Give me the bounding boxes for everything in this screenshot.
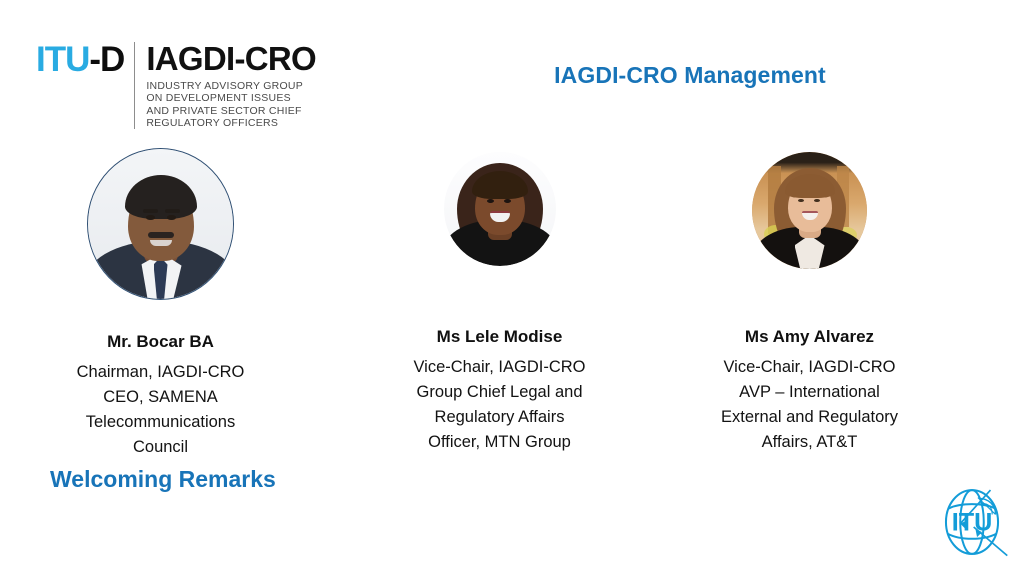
logo-subtitle-line-1: INDUSTRY ADVISORY GROUP [146, 80, 316, 92]
person-role-amy-alvarez: Vice-Chair, IAGDI-CRO AVP – Internationa… [677, 355, 942, 455]
itu-logo-icon: ITU [930, 480, 1014, 564]
welcoming-remarks-label: Welcoming Remarks [50, 466, 276, 493]
person-role-line: AVP – International [677, 380, 942, 405]
person-role-line: Telecommunications [28, 410, 293, 435]
itu-logo-text: ITU [952, 508, 993, 536]
person-role-line: CEO, SAMENA [28, 385, 293, 410]
portrait-moustache [148, 232, 174, 238]
person-role-line: Regulatory Affairs [367, 405, 632, 430]
itu-d-suffix-text: -D [89, 40, 124, 79]
person-role-line: Affairs, AT&T [677, 430, 942, 455]
portrait-image-amy-alvarez [752, 152, 867, 269]
itu-globe-icon: ITU [930, 480, 1014, 564]
person-card-amy-alvarez: Ms Amy Alvarez Vice-Chair, IAGDI-CRO AVP… [677, 152, 942, 455]
logo-divider [134, 42, 135, 129]
logo-subtitle-line-3: AND PRIVATE SECTOR CHIEF [146, 105, 316, 117]
portrait-eye-left [487, 199, 494, 203]
iagdi-cro-wordmark: IAGDI-CRO [146, 42, 316, 76]
portrait-image-bocar-ba [88, 149, 233, 299]
portrait-bocar-ba [87, 148, 234, 300]
logo-subtitle-line-4: REGULATORY OFFICERS [146, 117, 316, 129]
person-role-line: Chairman, IAGDI-CRO [28, 360, 293, 385]
person-role-line: Council [28, 435, 293, 460]
person-role-line: Vice-Chair, IAGDI-CRO [367, 355, 632, 380]
person-name-lele-modise: Ms Lele Modise [367, 326, 632, 348]
person-card-bocar-ba: Mr. Bocar BA Chairman, IAGDI-CRO CEO, SA… [28, 148, 293, 460]
portrait-eye-right [167, 215, 176, 220]
portrait-eye-left [146, 215, 155, 220]
portrait-image-lele-modise [444, 152, 556, 266]
person-role-line: Vice-Chair, IAGDI-CRO [677, 355, 942, 380]
portrait-lele-modise [444, 152, 556, 266]
person-role-lele-modise: Vice-Chair, IAGDI-CRO Group Chief Legal … [367, 355, 632, 455]
portrait-eyebrow-left [143, 209, 158, 213]
portrait-eye-right [504, 199, 511, 203]
logo-subtitle-line-2: ON DEVELOPMENT ISSUES [146, 92, 316, 104]
logo-right-block: IAGDI-CRO INDUSTRY ADVISORY GROUP ON DEV… [146, 42, 316, 129]
person-name-bocar-ba: Mr. Bocar BA [28, 331, 293, 353]
portrait-eyebrow-right [165, 209, 180, 213]
person-role-line: External and Regulatory [677, 405, 942, 430]
person-role-line: Officer, MTN Group [367, 430, 632, 455]
itu-d-wordmark: ITU-D [36, 42, 134, 78]
portrait-amy-alvarez [752, 152, 867, 269]
presentation-slide: ITU-D IAGDI-CRO INDUSTRY ADVISORY GROUP … [0, 0, 1024, 576]
portrait-mouth [150, 240, 172, 246]
person-role-line: Group Chief Legal and [367, 380, 632, 405]
person-role-bocar-ba: Chairman, IAGDI-CRO CEO, SAMENA Telecomm… [28, 360, 293, 460]
person-card-lele-modise: Ms Lele Modise Vice-Chair, IAGDI-CRO Gro… [367, 152, 632, 455]
logo-subtitle: INDUSTRY ADVISORY GROUP ON DEVELOPMENT I… [146, 80, 316, 129]
iagdi-cro-logo: ITU-D IAGDI-CRO INDUSTRY ADVISORY GROUP … [36, 42, 316, 129]
itu-wordmark-text: ITU [36, 40, 89, 79]
person-name-amy-alvarez: Ms Amy Alvarez [677, 326, 942, 348]
page-title: IAGDI-CRO Management [430, 62, 950, 89]
